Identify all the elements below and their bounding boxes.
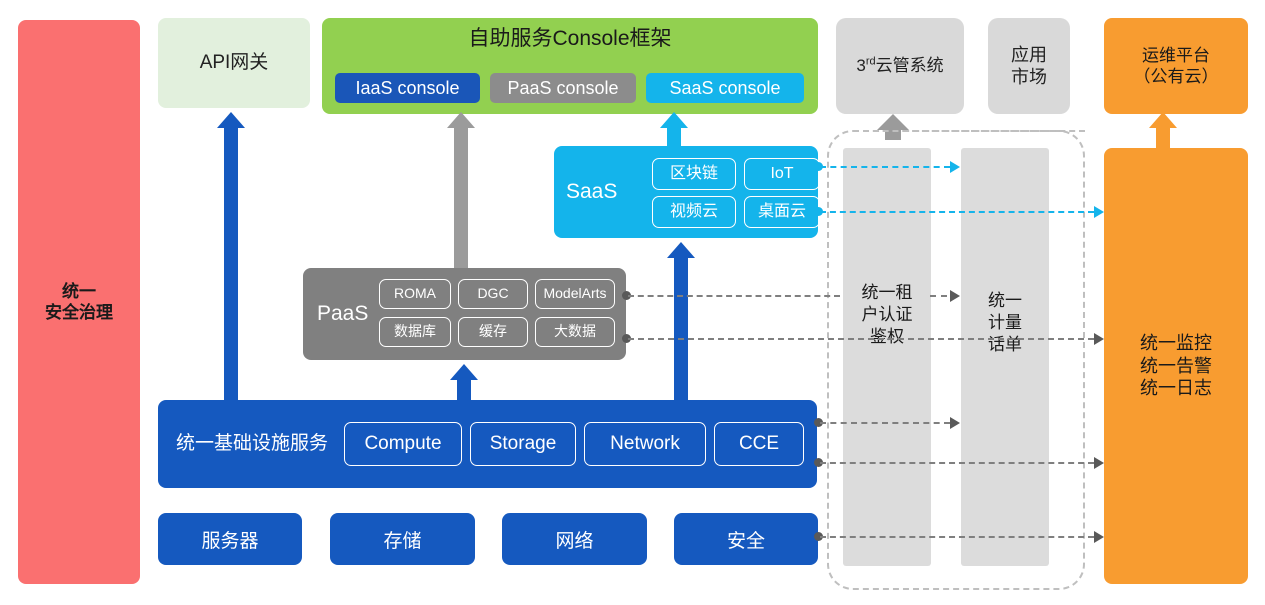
paas-chip-modelarts[interactable]: ModelArts: [535, 279, 615, 309]
dashed-line-infra-to-ops: [820, 462, 1094, 464]
saas-layer-box: SaaS 区块链 IoT 视频云 桌面云: [554, 146, 818, 238]
resource-box-server: 服务器: [158, 513, 302, 565]
console-framework-box: 自助服务Console框架 IaaS console PaaS console …: [322, 18, 818, 114]
paas-console-chip[interactable]: PaaS console: [490, 73, 636, 103]
paas-layer-box: PaaS ROMA DGC ModelArts 数据库 缓存 大数据: [303, 268, 626, 360]
ops-platform-public-cloud-box: 运维平台 （公有云）: [1104, 18, 1248, 114]
dashed-line-infra-to-billing: [820, 422, 950, 424]
arrowhead-saas-to-ops: [1094, 206, 1104, 218]
dashed-line-paas-to-auth: [628, 295, 840, 297]
security-governance-label: 统一 安全治理: [45, 281, 113, 324]
saas-chip-desktop-cloud[interactable]: 桌面云: [744, 196, 820, 228]
infra-chip-compute[interactable]: Compute: [344, 422, 462, 466]
saas-chip-iot[interactable]: IoT: [744, 158, 820, 190]
third-party-cloud-mgmt-box: 3rd云管系统: [836, 18, 964, 114]
security-governance-panel: 统一 安全治理: [18, 20, 140, 584]
api-gateway-box: API网关: [158, 18, 310, 108]
dashed-line-resources-to-ops: [820, 536, 1094, 538]
infra-chip-storage[interactable]: Storage: [470, 422, 576, 466]
arrowhead-resources-to-ops: [1094, 531, 1104, 543]
shared-service-billing-label: 统一 计量 话单: [961, 290, 1049, 356]
architecture-diagram: 统一 安全治理 API网关 自助服务Console框架 IaaS console…: [0, 0, 1265, 605]
arrowhead-infra-to-ops: [1094, 457, 1104, 469]
app-market-label: 应用 市场: [1011, 44, 1047, 89]
api-gateway-label: API网关: [200, 51, 269, 75]
saas-console-chip[interactable]: SaaS console: [646, 73, 804, 103]
resource-box-storage: 存储: [330, 513, 475, 565]
paas-chip-roma[interactable]: ROMA: [379, 279, 451, 309]
paas-chip-database[interactable]: 数据库: [379, 317, 451, 347]
saas-chip-video-cloud[interactable]: 视频云: [652, 196, 736, 228]
third-party-prefix: 3: [856, 56, 865, 75]
paas-chip-cache[interactable]: 缓存: [458, 317, 528, 347]
iaas-console-chip[interactable]: IaaS console: [335, 73, 480, 103]
saas-chip-blockchain[interactable]: 区块链: [652, 158, 736, 190]
unified-monitoring-label: 统一监控 统一告警 统一日志: [1140, 332, 1212, 400]
third-party-rest: 云管系统: [876, 56, 944, 75]
arrowhead-auth-to-billing: [950, 290, 960, 302]
console-framework-title: 自助服务Console框架: [322, 26, 818, 52]
third-party-superscript: rd: [866, 56, 876, 68]
arrowhead-paas-to-ops: [1094, 333, 1104, 345]
dashed-line-to-third-party: [863, 130, 1085, 132]
paas-layer-label: PaaS: [317, 301, 368, 327]
unified-infrastructure-bar: 统一基础设施服务 Compute Storage Network CCE: [158, 400, 817, 488]
dashed-line-saas-to-billing: [820, 166, 950, 168]
third-party-cloud-mgmt-label: 3rd云管系统: [856, 55, 943, 76]
infra-chip-network[interactable]: Network: [584, 422, 706, 466]
dashed-line-paas-to-billing: [628, 338, 1094, 340]
resource-box-security: 安全: [674, 513, 818, 565]
unified-infrastructure-label: 统一基础设施服务: [176, 432, 328, 456]
resource-box-network: 网络: [502, 513, 647, 565]
arrowhead-infra-to-billing: [950, 417, 960, 429]
saas-layer-label: SaaS: [566, 179, 617, 205]
arrowhead-saas-to-billing: [950, 161, 960, 173]
ops-platform-label: 运维平台 （公有云）: [1134, 45, 1219, 88]
dashed-line-saas-to-ops: [820, 211, 1094, 213]
unified-monitoring-panel: 统一监控 统一告警 统一日志: [1104, 148, 1248, 584]
app-market-box: 应用 市场: [988, 18, 1070, 114]
paas-chip-bigdata[interactable]: 大数据: [535, 317, 615, 347]
infra-chip-cce[interactable]: CCE: [714, 422, 804, 466]
paas-chip-dgc[interactable]: DGC: [458, 279, 528, 309]
